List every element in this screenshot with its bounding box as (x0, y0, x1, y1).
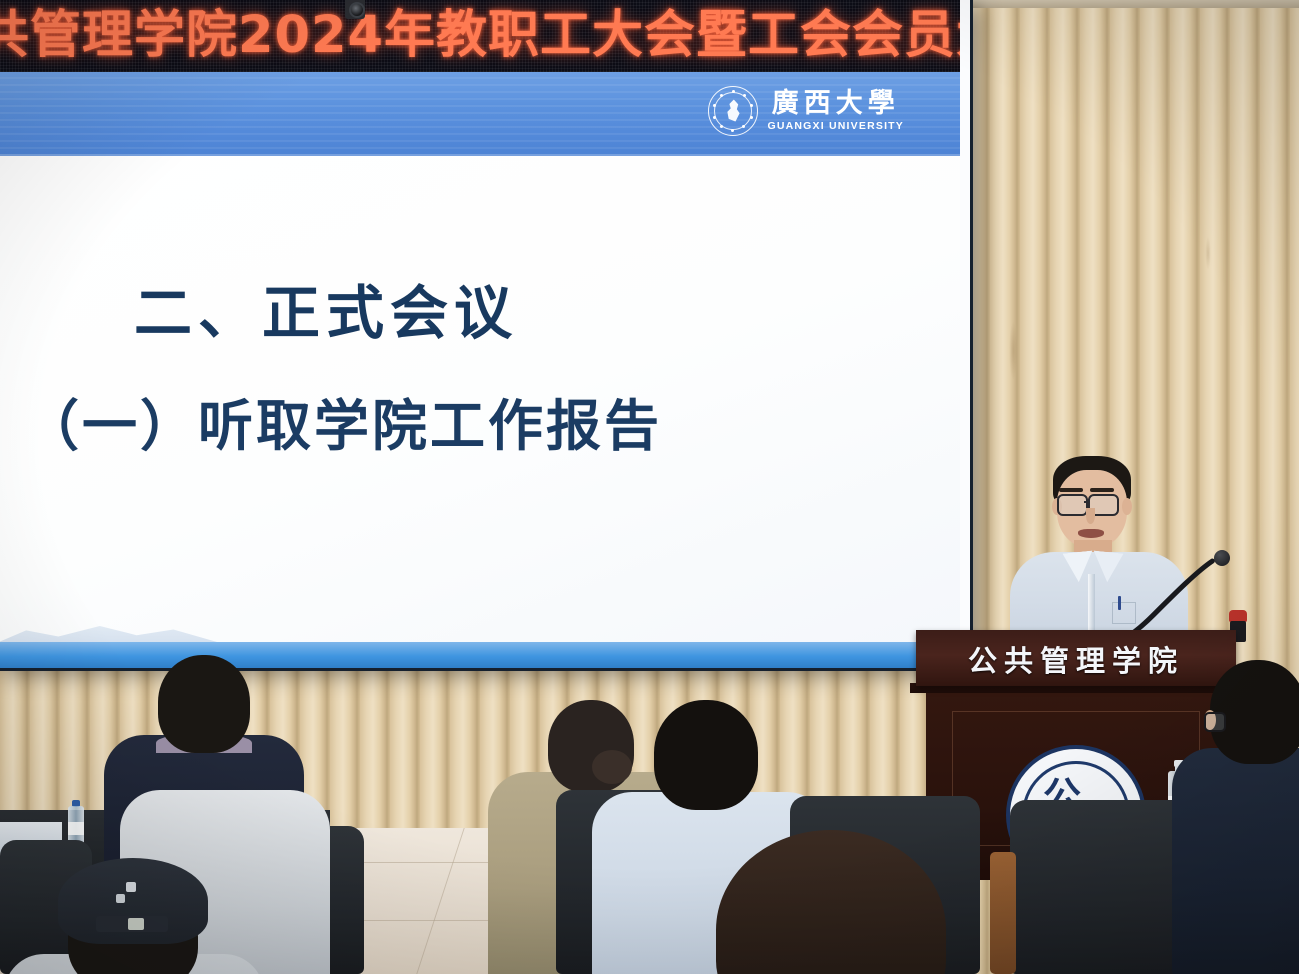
university-logo: 廣西大學 GUANGXI UNIVERSITY (708, 86, 904, 136)
slide-heading: 二、正式会议 (134, 266, 518, 350)
microphone-head-icon (1214, 550, 1230, 566)
speaker-glasses-bridge (1084, 501, 1090, 503)
attendee-suit-body (1172, 748, 1299, 974)
speaker-mouth (1078, 529, 1104, 538)
led-scrolling-banner: 共管理学院2024年教职工大会暨工会会员大会 (0, 0, 960, 72)
projection-screen: 共管理学院2024年教职工大会暨工会会员大会 (0, 0, 970, 668)
seal-flame-glyph (725, 100, 742, 122)
attendee-suit-glasses-icon (1204, 712, 1226, 732)
slide-header-band: 廣西大學 GUANGXI UNIVERSITY (0, 72, 960, 156)
chair-armrest-2 (990, 852, 1016, 974)
cap-logo-2 (116, 894, 125, 903)
attendee-long-hair (716, 830, 956, 974)
guangxi-university-seal-icon (708, 86, 758, 136)
attendee-blue-head (654, 700, 758, 810)
microphone-gooseneck (1108, 556, 1226, 640)
mountain-silhouette-icon (0, 622, 224, 644)
speaker-glasses-left-lens (1057, 494, 1088, 516)
ceiling-camera-icon (342, 0, 368, 29)
speaker-nose (1086, 508, 1095, 524)
attendee-navy-head (158, 655, 250, 753)
attendee-dark-cap (30, 858, 260, 974)
speaker-ear-right (1122, 498, 1132, 515)
conference-hall-photo: 共管理学院2024年教职工大会暨工会会员大会 (0, 0, 1299, 974)
led-banner-text: 共管理学院2024年教职工大会暨工会会员大会 (0, 6, 960, 66)
attendee-navy-suit (1182, 660, 1299, 974)
speaker-eyebrow-left (1059, 488, 1083, 492)
speaker-eyebrow-right (1090, 488, 1114, 492)
slide-subheading: （一）听取学院工作报告 (24, 381, 662, 461)
cap-logo-1 (126, 882, 136, 892)
cap-strap-buckle (128, 918, 144, 930)
slide-content-area: 二、正式会议 （一）听取学院工作报告 (0, 156, 960, 668)
university-name-chinese: 廣西大學 (772, 90, 900, 118)
university-name-english: GUANGXI UNIVERSITY (767, 120, 904, 132)
attendee-long-hair-head (716, 830, 946, 974)
